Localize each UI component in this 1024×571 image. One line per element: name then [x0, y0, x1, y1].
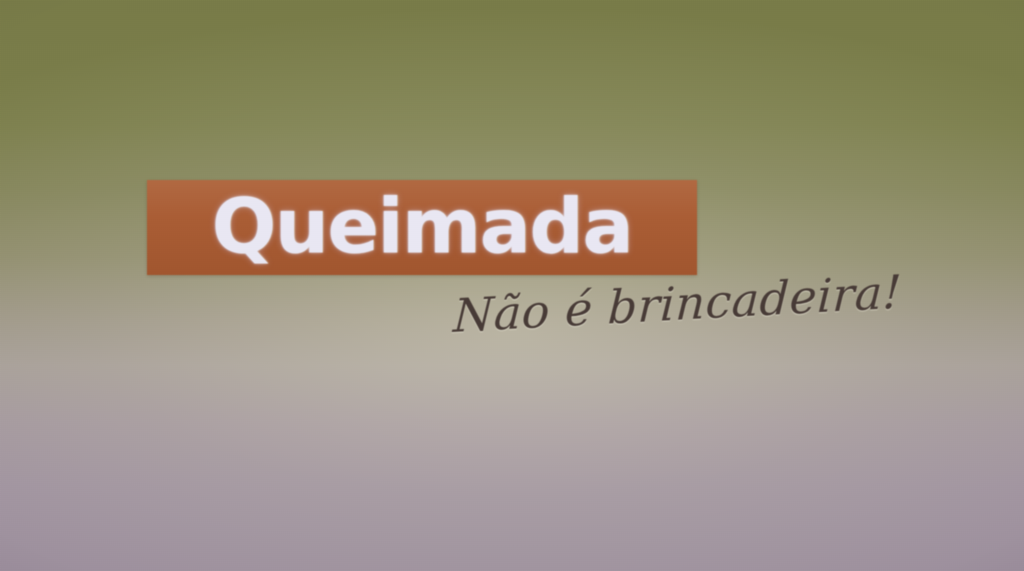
- slide-tagline: Não é brincadeira!: [452, 264, 903, 343]
- projected-slide-photo: Queimada Não é brincadeira!: [0, 0, 1024, 571]
- title-banner: Queimada: [147, 180, 697, 275]
- slide-title: Queimada: [147, 188, 697, 264]
- tagline-block: Não é brincadeira!: [452, 289, 932, 367]
